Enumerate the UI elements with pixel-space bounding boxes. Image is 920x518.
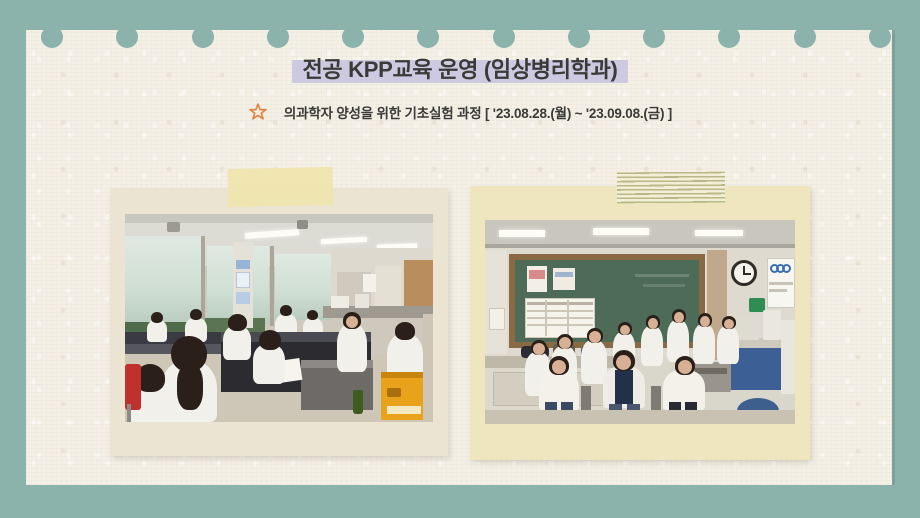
photo-group [485, 220, 795, 424]
page-title-wrap: 전공 KPP교육 운영 (임상병리학과) [0, 56, 920, 85]
pin-circle [41, 26, 63, 48]
scallop-bottom-left [110, 448, 448, 456]
slide-canvas: 전공 KPP교육 운영 (임상병리학과) 의과학자 양성을 위한 기초실험 과정… [0, 0, 920, 518]
bottom-teal-band [0, 485, 920, 518]
star-icon [248, 102, 268, 122]
pin-circle [267, 26, 289, 48]
subtitle-row: 의과학자 양성을 위한 기초실험 과정 [ '23.08.28.(월) ~ '2… [0, 102, 920, 122]
photo-laboratory [125, 214, 433, 422]
pin-circle [493, 26, 515, 48]
scallop-bottom-right [470, 452, 810, 460]
pin-circle [794, 26, 816, 48]
top-teal-band [0, 0, 920, 30]
photo-card-group [470, 186, 810, 460]
pin-circle [192, 26, 214, 48]
tape-plain-yellow [228, 167, 334, 207]
page-title: 전공 KPP교육 운영 (임상병리학과) [292, 56, 627, 85]
subtitle-text: 의과학자 양성을 위한 기초실험 과정 [ '23.08.28.(월) ~ '2… [284, 102, 672, 122]
tape-striped-olive [617, 172, 725, 204]
pin-circle [342, 26, 364, 48]
photo-card-laboratory [110, 188, 448, 456]
pin-circle [869, 26, 891, 48]
photo-card-left-body [110, 188, 448, 456]
photo-card-right-body [470, 186, 810, 460]
pin-circle [568, 26, 590, 48]
pin-circle [643, 26, 665, 48]
